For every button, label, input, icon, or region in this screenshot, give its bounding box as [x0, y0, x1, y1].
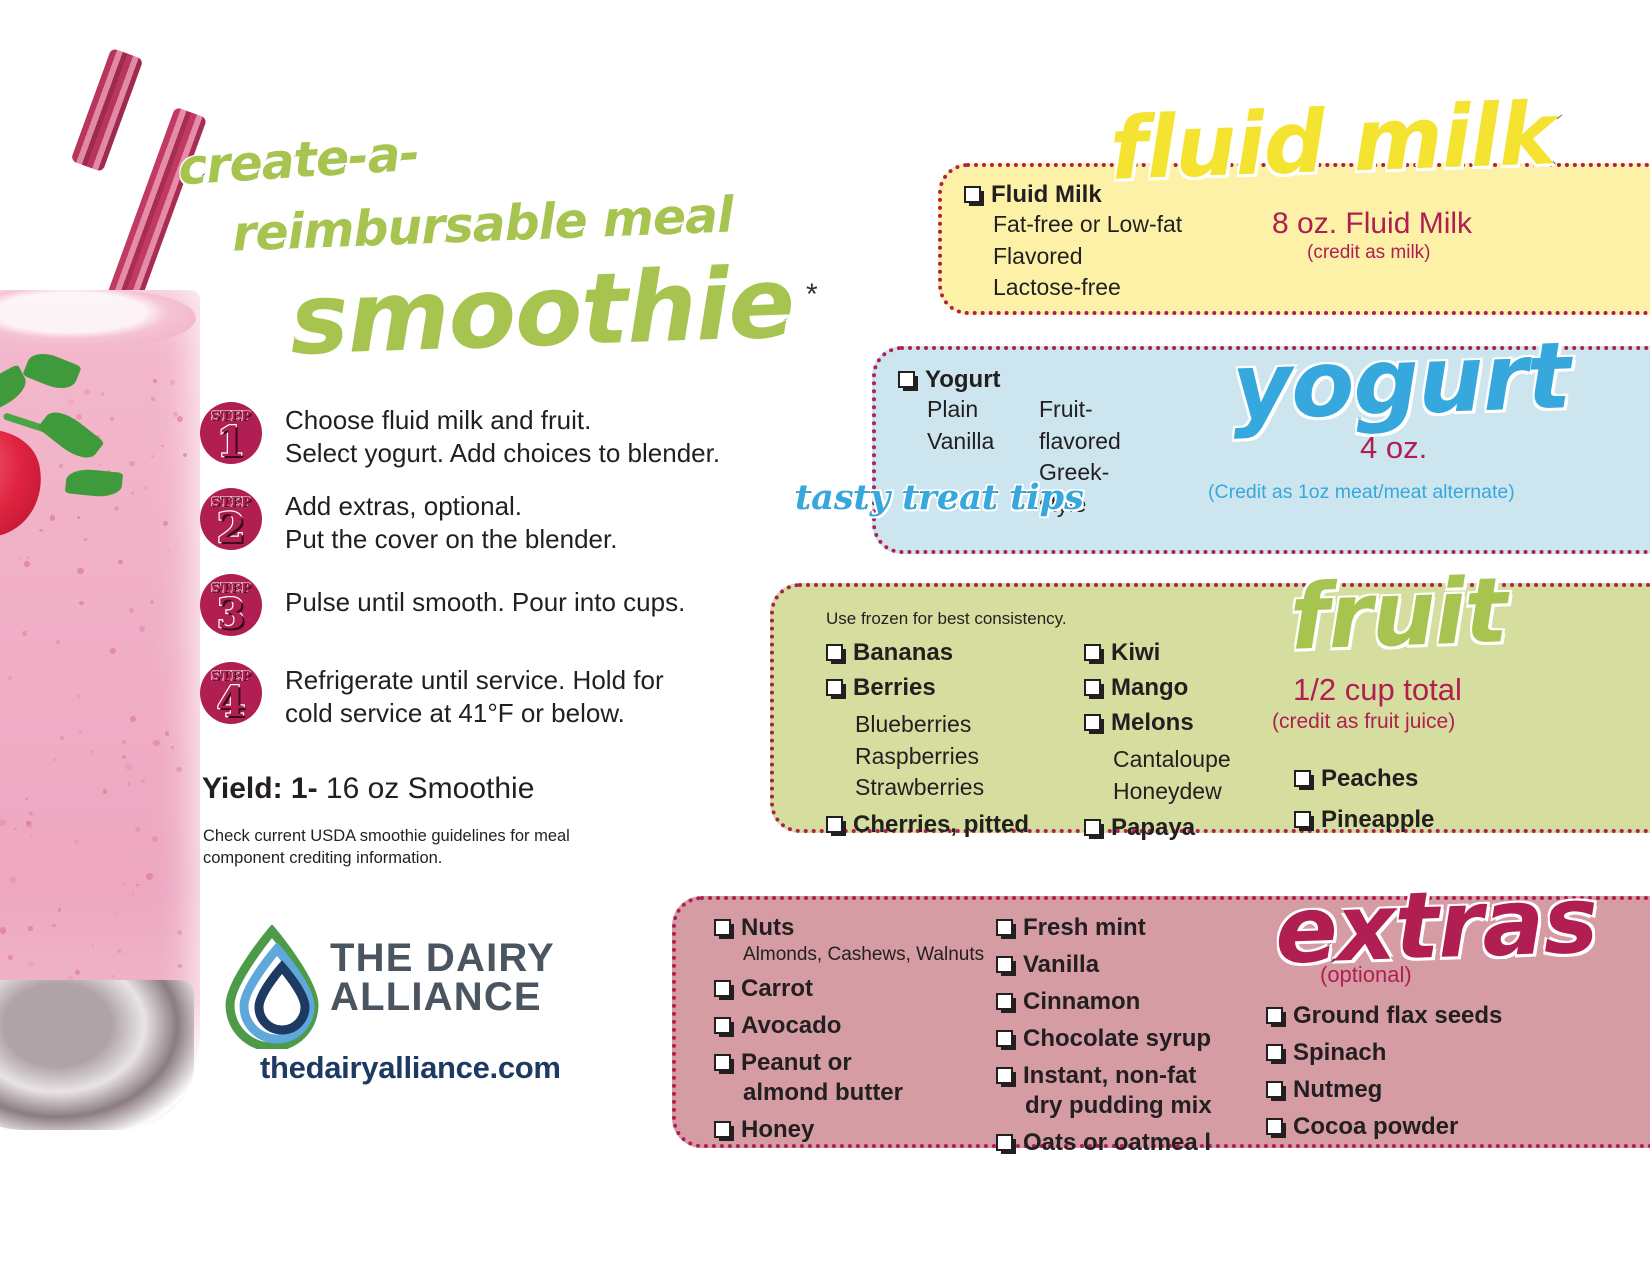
extras-item: Instant, non-fat	[996, 1062, 1261, 1090]
extras-item-label: Carrot	[741, 975, 813, 1002]
extras-optional-label: (optional)	[1320, 962, 1412, 988]
fruit-sub-item: Honeydew	[1084, 776, 1299, 808]
fruit-credit: (credit as fruit juice)	[1272, 710, 1455, 734]
fruit-item: Berries	[826, 674, 1046, 702]
tasty-treat-tips-label: tasty treat tips	[795, 477, 1084, 518]
step-number: 4	[200, 678, 262, 726]
extras-item-label: Fresh mint	[1023, 914, 1146, 941]
fruit-item-label: Pineapple	[1321, 806, 1434, 833]
fruit-item-label: Melons	[1111, 709, 1194, 736]
page-title-smoothie: smoothie	[288, 246, 795, 378]
step-number: 1	[200, 418, 262, 466]
fruit-item-label: Peaches	[1321, 765, 1418, 792]
title-asterisk: *	[806, 278, 818, 312]
checkbox-icon[interactable]	[1266, 1007, 1283, 1024]
extras-item: Spinach	[1266, 1039, 1536, 1067]
checkbox-icon[interactable]	[996, 919, 1013, 936]
fruit-item: Pineapple	[1294, 806, 1514, 834]
water-drop-icon	[222, 925, 322, 1049]
logo-wordmark: THE DAIRY ALLIANCE	[330, 939, 555, 1017]
step-row: STEP 4 Refrigerate until service. Hold f…	[200, 660, 730, 729]
checkbox-icon[interactable]	[1266, 1118, 1283, 1135]
step-text-line: Pulse until smooth. Pour into cups.	[285, 586, 685, 619]
fluid-milk-option: Flavored	[964, 241, 1182, 273]
step-text: Pulse until smooth. Pour into cups.	[285, 572, 685, 619]
checkbox-icon[interactable]	[1294, 770, 1311, 787]
checkbox-icon[interactable]	[898, 371, 915, 388]
extras-column-1: Nuts Almonds, Cashews, Walnuts Carrot Av…	[714, 914, 989, 1153]
yogurt-heading: Yogurt	[898, 366, 1151, 394]
extras-item-continuation: dry pudding mix	[996, 1092, 1261, 1120]
fruit-item: Melons	[1084, 709, 1299, 737]
fruit-item-label: Mango	[1111, 674, 1188, 701]
extras-item: Oats or oatmea l	[996, 1129, 1261, 1157]
extras-item-label: Oats or oatmea l	[1023, 1129, 1211, 1156]
extras-column-2: Fresh mint Vanilla Cinnamon Chocolate sy…	[996, 914, 1261, 1166]
usda-note: Check current USDA smoothie guidelines f…	[203, 825, 633, 870]
extras-column-3: Ground flax seeds Spinach Nutmeg Cocoa p…	[1266, 1002, 1536, 1150]
fluid-milk-option: Lactose-free	[964, 272, 1182, 304]
fruit-note: Use frozen for best consistency.	[826, 609, 1067, 629]
checkbox-icon[interactable]	[996, 993, 1013, 1010]
yogurt-credit: (Credit as 1oz meat/meat alternate)	[1208, 481, 1515, 504]
yogurt-option: Vanilla	[927, 426, 1039, 458]
checkbox-icon[interactable]	[714, 919, 731, 936]
step-badge-4: STEP 4	[200, 662, 262, 724]
extras-item: Cocoa powder	[1266, 1113, 1536, 1141]
extras-item: Carrot	[714, 975, 989, 1003]
fruit-item-label: Berries	[853, 674, 936, 701]
checkbox-icon[interactable]	[964, 186, 981, 203]
fruit-item: Bananas	[826, 639, 1046, 667]
step-text: Choose fluid milk and fruit. Select yogu…	[285, 400, 720, 469]
fruit-item: Papaya	[1084, 814, 1299, 842]
fruit-item-label: Bananas	[853, 639, 953, 666]
poster-page: create-a- reimbursable meal smoothie * S…	[0, 0, 1650, 1275]
panel-fruit: Use frozen for best consistency. Bananas…	[770, 583, 1650, 833]
checkbox-icon[interactable]	[1266, 1081, 1283, 1098]
extras-item: Vanilla	[996, 951, 1261, 979]
checkbox-icon[interactable]	[714, 1121, 731, 1138]
extras-item-label: Nuts	[741, 914, 794, 941]
step-text-line: Select yogurt. Add choices to blender.	[285, 437, 720, 470]
panel-title-fruit: fruit	[1288, 558, 1508, 670]
yogurt-option: Fruit-flavored	[1039, 394, 1151, 457]
step-text-line: Put the cover on the blender.	[285, 523, 617, 556]
step-badge-3: STEP 3	[200, 574, 262, 636]
extras-item-label: Instant, non-fat	[1023, 1062, 1196, 1089]
yield-line: Yield: 1- 16 oz Smoothie	[202, 772, 534, 806]
extras-item: Avocado	[714, 1012, 989, 1040]
fruit-column-3: Peaches Pineapple	[1294, 765, 1514, 841]
steps-list: STEP 1 Choose fluid milk and fruit. Sele…	[200, 400, 730, 746]
checkbox-icon[interactable]	[1084, 714, 1101, 731]
checkbox-icon[interactable]	[714, 1054, 731, 1071]
extras-sub-item: Almonds, Cashews, Walnuts	[714, 944, 989, 966]
step-text: Refrigerate until service. Hold for cold…	[285, 660, 664, 729]
extras-item: Peanut or	[714, 1049, 989, 1077]
fruit-column-1: Bananas Berries Blueberries Raspberries …	[826, 639, 1046, 846]
page-title-line1: create-a-	[176, 125, 420, 197]
checkbox-icon[interactable]	[826, 644, 843, 661]
step-text-line: Add extras, optional.	[285, 490, 617, 523]
checkbox-icon[interactable]	[996, 956, 1013, 973]
extras-item: Fresh mint	[996, 914, 1261, 942]
fluid-milk-option: Fat-free or Low-fat	[964, 209, 1182, 241]
checkbox-icon[interactable]	[996, 1067, 1013, 1084]
extras-item-label: Cocoa powder	[1293, 1113, 1458, 1140]
step-text-line: Choose fluid milk and fruit.	[285, 404, 720, 437]
fruit-sub-item: Strawberries	[826, 772, 1046, 804]
yield-label: Yield: 1-	[202, 772, 318, 805]
extras-item-label: Ground flax seeds	[1293, 1002, 1502, 1029]
yogurt-heading-label: Yogurt	[925, 366, 1001, 393]
glass-base	[0, 980, 194, 1130]
yield-value: 16 oz Smoothie	[318, 772, 535, 805]
step-number: 3	[200, 590, 262, 638]
step-row: STEP 2 Add extras, optional. Put the cov…	[200, 486, 730, 555]
website-url: thedairyalliance.com	[260, 1050, 561, 1086]
extras-item-label: Avocado	[741, 1012, 841, 1039]
fruit-sub-item: Blueberries	[826, 709, 1046, 741]
extras-item: Honey	[714, 1116, 989, 1144]
logo-line1: THE DAIRY	[330, 939, 555, 978]
checkbox-icon[interactable]	[1294, 811, 1311, 828]
fruit-amount: 1/2 cup total	[1293, 672, 1462, 708]
step-badge-2: STEP 2	[200, 488, 262, 550]
checkbox-icon[interactable]	[996, 1134, 1013, 1151]
step-row: STEP 1 Choose fluid milk and fruit. Sele…	[200, 400, 730, 469]
extras-item-label: Chocolate syrup	[1023, 1025, 1211, 1052]
yogurt-option: Plain	[927, 394, 1039, 426]
extras-item: Nuts	[714, 914, 989, 942]
checkbox-icon[interactable]	[1084, 819, 1101, 836]
logo-line2: ALLIANCE	[330, 978, 555, 1017]
yogurt-amount: 4 oz.	[1360, 430, 1427, 466]
fruit-sub-item: Raspberries	[826, 741, 1046, 773]
extras-item: Ground flax seeds	[1266, 1002, 1536, 1030]
fruit-item: Kiwi	[1084, 639, 1299, 667]
step-badge-1: STEP 1	[200, 402, 262, 464]
extras-item-label: Spinach	[1293, 1039, 1386, 1066]
fruit-item-label: Papaya	[1111, 814, 1195, 841]
fluid-milk-options: Fluid Milk Fat-free or Low-fat Flavored …	[964, 181, 1182, 304]
fruit-sub-item: Cantaloupe	[1084, 744, 1299, 776]
step-text-line: cold service at 41°F or below.	[285, 697, 664, 730]
fruit-item-label: Kiwi	[1111, 639, 1160, 666]
panel-title-yogurt: yogurt	[1230, 322, 1571, 441]
step-text-line: Refrigerate until service. Hold for	[285, 664, 664, 697]
straw-top-segment	[71, 48, 144, 172]
step-number: 2	[200, 504, 262, 552]
checkbox-icon[interactable]	[996, 1030, 1013, 1047]
checkbox-icon[interactable]	[1266, 1044, 1283, 1061]
extras-item-label: Nutmeg	[1293, 1076, 1382, 1103]
extras-item: Cinnamon	[996, 988, 1261, 1016]
extras-item-label: Peanut or	[741, 1049, 852, 1076]
fluid-milk-credit: (credit as milk)	[1307, 242, 1431, 264]
extras-item-continuation: almond butter	[714, 1079, 989, 1107]
extras-item-label: Cinnamon	[1023, 988, 1140, 1015]
checkbox-icon[interactable]	[826, 816, 843, 833]
fluid-milk-amount: 8 oz. Fluid Milk	[1272, 207, 1472, 241]
checkbox-icon[interactable]	[714, 1017, 731, 1034]
step-row: STEP 3 Pulse until smooth. Pour into cup…	[200, 572, 730, 636]
checkbox-icon[interactable]	[826, 679, 843, 696]
checkbox-icon[interactable]	[1084, 644, 1101, 661]
extras-item: Chocolate syrup	[996, 1025, 1261, 1053]
extras-item: Nutmeg	[1266, 1076, 1536, 1104]
panel-title-fluid-milk: fluid milk	[1108, 84, 1556, 199]
fruit-item: Mango	[1084, 674, 1299, 702]
fruit-column-2: Kiwi Mango Melons Cantaloupe Honeydew Pa…	[1084, 639, 1299, 849]
fruit-item: Peaches	[1294, 765, 1514, 793]
step-text: Add extras, optional. Put the cover on t…	[285, 486, 617, 555]
checkbox-icon[interactable]	[1084, 679, 1101, 696]
fluid-milk-heading-label: Fluid Milk	[991, 181, 1102, 208]
extras-item-label: Honey	[741, 1116, 814, 1143]
checkbox-icon[interactable]	[714, 980, 731, 997]
fruit-item: Cherries, pitted	[826, 811, 1046, 839]
extras-item-label: Vanilla	[1023, 951, 1099, 978]
fruit-item-label: Cherries, pitted	[853, 811, 1029, 838]
